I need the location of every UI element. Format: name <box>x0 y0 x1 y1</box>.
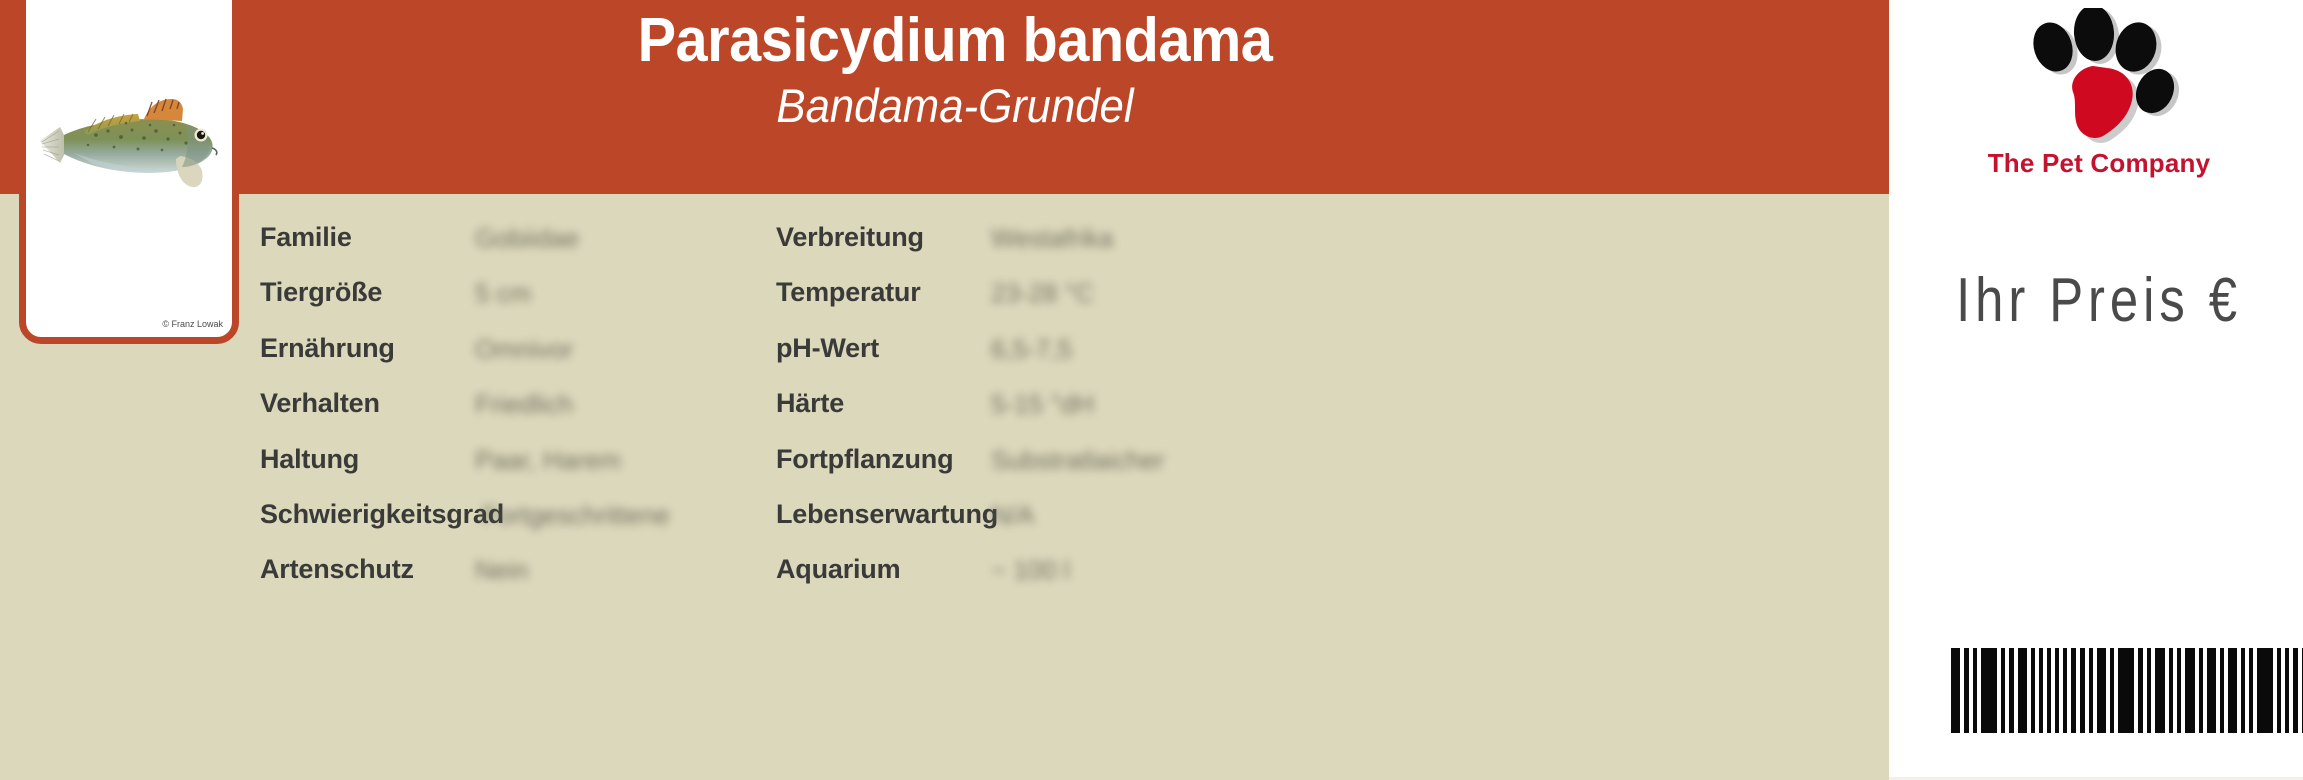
barcode-bar <box>1951 648 1960 733</box>
spec-row: Aquarium ~ 100 l <box>776 554 1296 609</box>
spec-label: Aquarium <box>776 554 900 585</box>
barcode-bar <box>2097 648 2106 733</box>
spec-row: Schwierigkeitsgrad Fortgeschrittene <box>260 499 760 554</box>
spec-row: Haltung Paar, Harem <box>260 444 760 499</box>
spec-label: Haltung <box>260 444 359 475</box>
spec-label: Lebenserwartung <box>776 499 998 530</box>
spec-row: Familie Gobiidae <box>260 222 760 277</box>
spec-row: Temperatur 23-28 °C <box>776 277 1296 332</box>
barcode-bar <box>2285 648 2289 733</box>
spec-row: Verhalten Friedlich <box>260 388 760 443</box>
barcode-bar <box>2055 648 2059 733</box>
spec-row: Fortpflanzung Substratlaicher <box>776 444 1296 499</box>
spec-row: Verbreitung Westafrika <box>776 222 1296 277</box>
barcode-bar <box>2147 648 2151 733</box>
spec-label: Verhalten <box>260 388 380 419</box>
barcode-bar <box>2039 648 2043 733</box>
species-photo-card: © Franz Lowak <box>19 0 239 344</box>
spec-value: Omnivor <box>475 334 573 365</box>
photo-credit: © Franz Lowak <box>162 319 223 329</box>
spec-value: Fortgeschrittene <box>482 500 670 531</box>
common-name: Bandama-Grundel <box>374 79 1537 133</box>
spec-column-left: Familie Gobiidae Tiergröße 5 cm Ernährun… <box>260 222 760 610</box>
product-barcode <box>1951 648 2303 733</box>
fish-photo <box>26 55 232 225</box>
paw-print-icon <box>2015 8 2195 148</box>
barcode-bar <box>2169 648 2173 733</box>
barcode-bar <box>2089 648 2093 733</box>
barcode-bar <box>2185 648 2195 733</box>
spec-value: Nein <box>475 555 528 586</box>
barcode-bar <box>2047 648 2051 733</box>
brand-name: The Pet Company <box>1895 148 2303 179</box>
barcode-bar <box>2110 648 2114 733</box>
barcode-bar <box>2071 648 2076 733</box>
spec-label: Familie <box>260 222 352 253</box>
scientific-name: Parasicydium bandama <box>374 6 1537 75</box>
barcode-bar <box>2177 648 2181 733</box>
spec-value: ~ 100 l <box>991 555 1070 586</box>
barcode-bar <box>2001 648 2005 733</box>
barcode-bar <box>2277 648 2281 733</box>
spec-label: Artenschutz <box>260 554 414 585</box>
spec-label: Temperatur <box>776 277 921 308</box>
spec-row: Artenschutz Nein <box>260 554 760 609</box>
spec-value: 6,5-7,5 <box>991 334 1072 365</box>
barcode-bar <box>2018 648 2027 733</box>
barcode-bar <box>1964 648 1969 733</box>
spec-label: Schwierigkeitsgrad <box>260 499 504 530</box>
spec-value: 23-28 °C <box>991 278 1094 309</box>
barcode-bar <box>2228 648 2237 733</box>
barcode-bar <box>2257 648 2273 733</box>
barcode-bar <box>2031 648 2035 733</box>
title-block: Parasicydium bandama Bandama-Grundel <box>330 6 1580 133</box>
barcode-bar <box>2118 648 2134 733</box>
spec-row: Tiergröße 5 cm <box>260 277 760 332</box>
spec-label: Fortpflanzung <box>776 444 953 475</box>
barcode-bar <box>2155 648 2165 733</box>
barcode-bar <box>2138 648 2143 733</box>
barcode-bar <box>2207 648 2216 733</box>
spec-row: pH-Wert 6,5-7,5 <box>776 333 1296 388</box>
barcode-bar <box>2241 648 2245 733</box>
barcode-bar <box>2293 648 2298 733</box>
barcode-bar <box>2199 648 2203 733</box>
price-panel: The Pet Company Ihr Preis € <box>1889 0 2303 780</box>
spec-value: N/A <box>991 500 1034 531</box>
spec-row: Härte 5-15 °dH <box>776 388 1296 443</box>
barcode-bar <box>1981 648 1997 733</box>
barcode-bar <box>2080 648 2085 733</box>
spec-value: 5 cm <box>475 278 531 309</box>
brand-logo: The Pet Company <box>1895 6 2303 192</box>
spec-label: pH-Wert <box>776 333 879 364</box>
spec-value: Westafrika <box>991 223 1113 254</box>
barcode-bar <box>2249 648 2253 733</box>
barcode-bar <box>2009 648 2014 733</box>
spec-column-right: Verbreitung Westafrika Temperatur 23-28 … <box>776 222 1296 610</box>
main-info-panel: Parasicydium bandama Bandama-Grundel <box>0 0 1889 780</box>
spec-value: Friedlich <box>475 389 573 420</box>
goby-fish-illustration <box>26 55 232 225</box>
barcode-bar <box>1973 648 1977 733</box>
price-label: Ihr Preis € <box>1932 265 2267 336</box>
spec-value: Gobiidae <box>475 223 579 254</box>
spec-label: Verbreitung <box>776 222 924 253</box>
spec-label: Tiergröße <box>260 277 382 308</box>
spec-value: Paar, Harem <box>475 445 621 476</box>
barcode-bar <box>2220 648 2224 733</box>
spec-row: Lebenserwartung N/A <box>776 499 1296 554</box>
product-info-sign: Parasicydium bandama Bandama-Grundel <box>0 0 2303 780</box>
spec-row: Ernährung Omnivor <box>260 333 760 388</box>
spec-value: 5-15 °dH <box>991 389 1094 420</box>
spec-label: Härte <box>776 388 844 419</box>
barcode-bar <box>2063 648 2067 733</box>
spec-value: Substratlaicher <box>991 445 1164 476</box>
spec-label: Ernährung <box>260 333 395 364</box>
